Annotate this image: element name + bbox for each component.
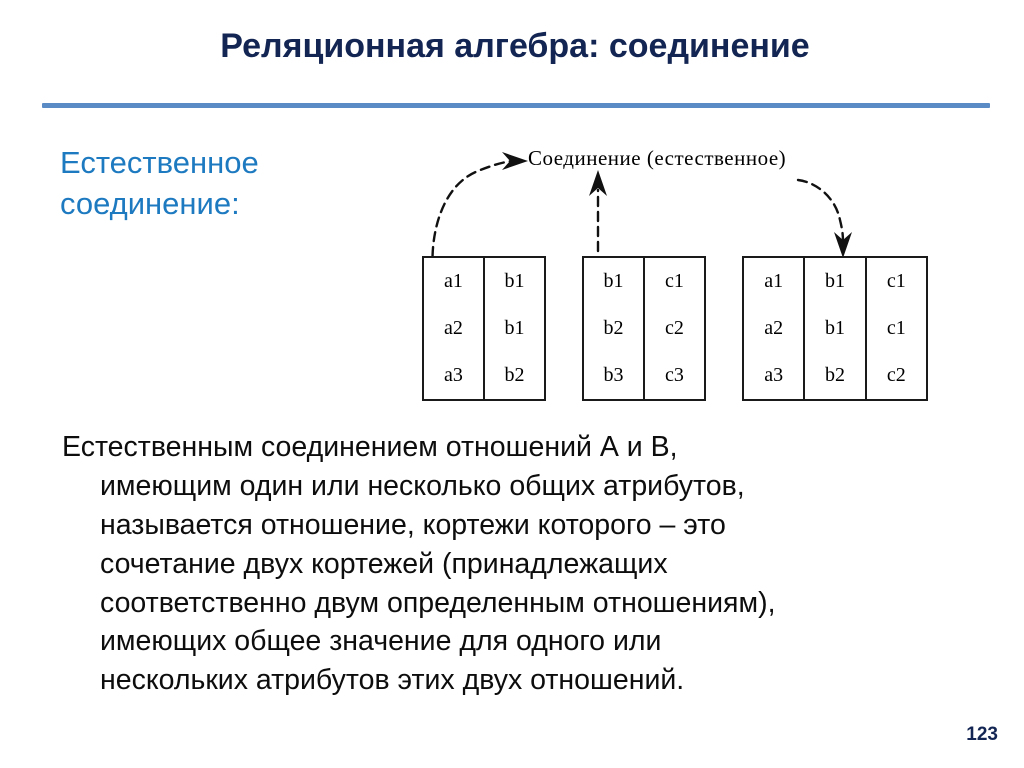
paragraph-line: сочетание двух кортежей (принадлежащих (62, 545, 962, 584)
paragraph-line: нескольких атрибутов этих двух отношений… (62, 661, 962, 700)
cell: b3 (584, 352, 644, 399)
cell: b1 (484, 305, 544, 352)
cell: a1 (424, 258, 484, 305)
paragraph-line: соответственно двум определенным отношен… (62, 584, 962, 623)
relation-b-table: b1 c1 b2 c2 b3 c3 (582, 256, 706, 401)
paragraph-line: называется отношение, кортежи которого –… (62, 506, 962, 545)
relation-join-result-table: a1 b1 c1 a2 b1 c1 a3 b2 c2 (742, 256, 928, 401)
paragraph-line: имеющих общее значение для одного или (62, 622, 962, 661)
cell: b1 (804, 258, 865, 305)
cell: c1 (866, 305, 926, 352)
table-row: a2 b1 (424, 305, 544, 352)
section-subtitle: Естественное соединение: (60, 143, 400, 225)
cell: c1 (866, 258, 926, 305)
cell: b2 (804, 352, 865, 399)
slide-canvas: Реляционная алгебра: соединение Естестве… (0, 0, 1024, 768)
page-title: Реляционная алгебра: соединение (40, 28, 990, 65)
table-row: a2 b1 c1 (744, 305, 926, 352)
cell: c2 (644, 305, 704, 352)
table-row: a1 b1 (424, 258, 544, 305)
table-row: b2 c2 (584, 305, 704, 352)
cell: b2 (484, 352, 544, 399)
table-row: b1 c1 (584, 258, 704, 305)
cell: b2 (584, 305, 644, 352)
cell: a3 (424, 352, 484, 399)
table-row: a3 b2 (424, 352, 544, 399)
table-row: b3 c3 (584, 352, 704, 399)
paragraph-line: имеющим один или несколько общих атрибут… (62, 467, 962, 506)
cell: a3 (744, 352, 804, 399)
cell: a2 (744, 305, 804, 352)
page-number: 123 (966, 724, 998, 746)
cell: b1 (804, 305, 865, 352)
definition-paragraph: Естественным соединением отношений А и В… (62, 428, 962, 700)
cell: c3 (644, 352, 704, 399)
table-row: a1 b1 c1 (744, 258, 926, 305)
relation-a-table: a1 b1 a2 b1 a3 b2 (422, 256, 546, 401)
table-row: a3 b2 c2 (744, 352, 926, 399)
arrow-label-to-result-icon (798, 180, 852, 258)
join-label: Соединение (естественное) (528, 146, 786, 171)
paragraph-line: Естественным соединением отношений А и В… (62, 428, 962, 467)
title-divider (42, 103, 990, 108)
cell: b1 (484, 258, 544, 305)
cell: a2 (424, 305, 484, 352)
cell: b1 (584, 258, 644, 305)
natural-join-diagram: Соединение (естественное) a1 b1 a2 b1 a3… (400, 138, 970, 413)
arrow-left-to-label-icon (433, 152, 528, 271)
cell: c2 (866, 352, 926, 399)
cell: a1 (744, 258, 804, 305)
cell: c1 (644, 258, 704, 305)
arrow-middle-to-label-icon (589, 170, 607, 251)
